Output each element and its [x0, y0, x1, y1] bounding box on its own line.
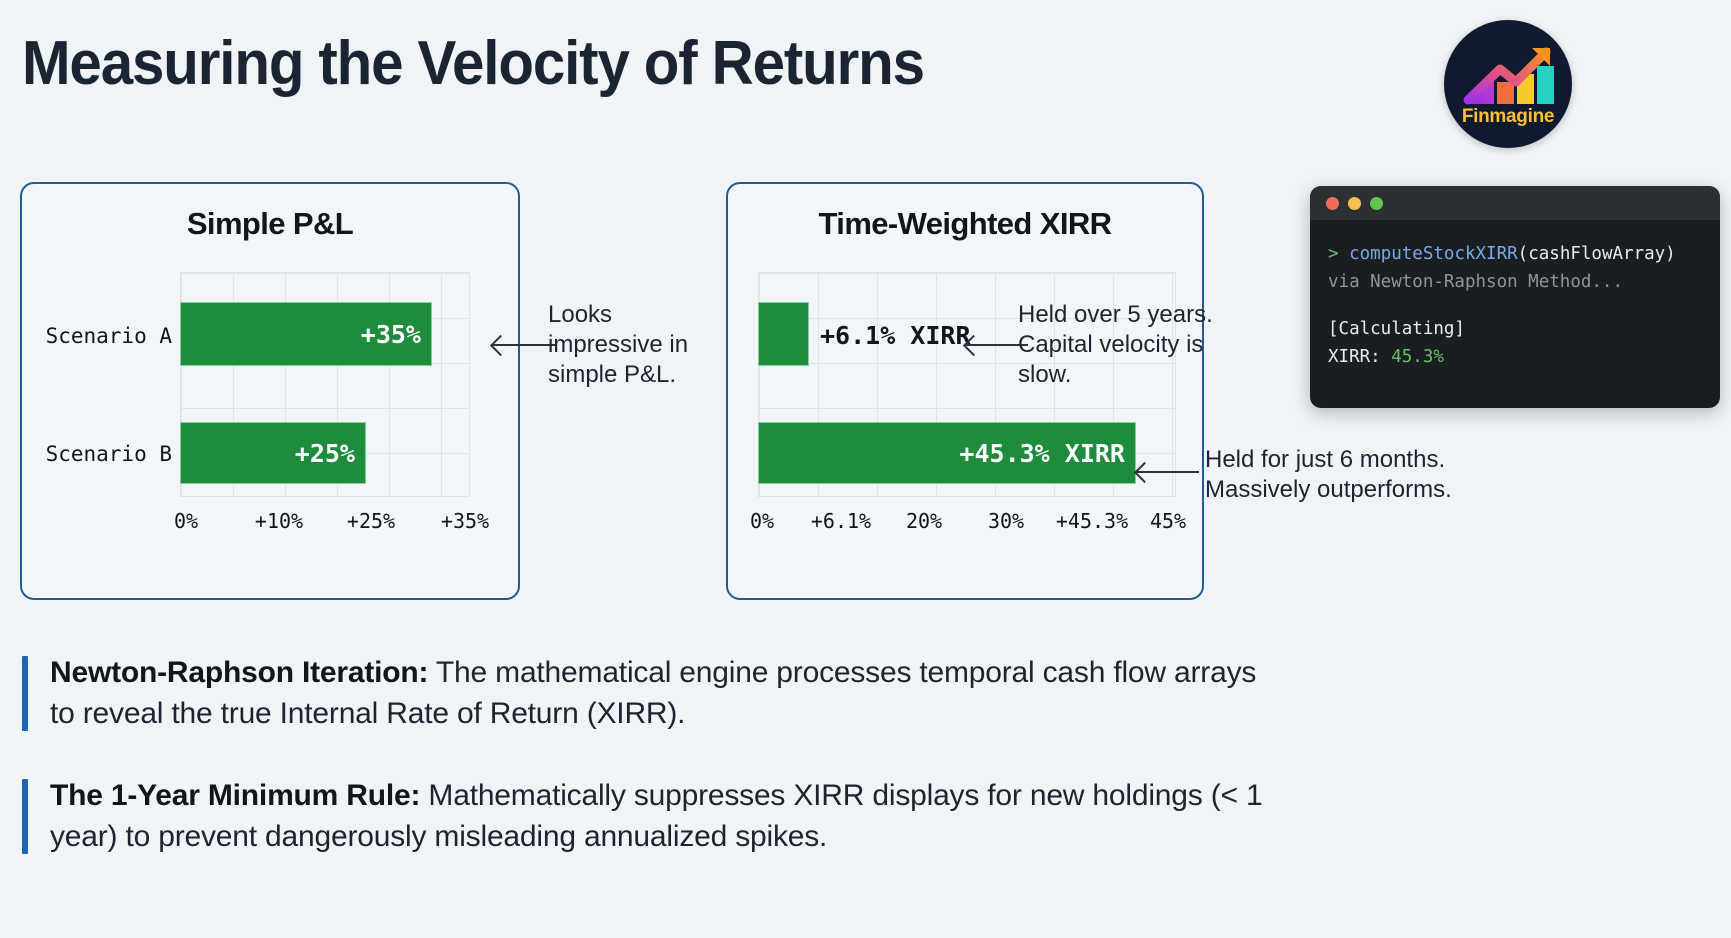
key-points-list: Newton-Raphson Iteration: The mathematic… — [22, 652, 1272, 898]
annotation-held-6-months: Held for just 6 months. Massively outper… — [1205, 445, 1495, 505]
minimize-icon[interactable] — [1348, 197, 1361, 210]
bar-label-scenario-b: +25% — [295, 439, 365, 468]
x-tick-left-2: +25% — [347, 509, 395, 533]
terminal-window: > computeStockXIRR(cashFlowArray) via Ne… — [1310, 186, 1720, 408]
terminal-body: > computeStockXIRR(cashFlowArray) via Ne… — [1310, 220, 1720, 371]
terminal-titlebar — [1310, 186, 1720, 220]
category-label-scenario-a: Scenario A — [30, 324, 172, 348]
chart-card-time-weighted-xirr: Time-Weighted XIRR +6.1% XIRR +45.3% XIR… — [726, 182, 1204, 600]
x-tick-left-3: +35% — [441, 509, 489, 533]
x-tick-right-0: 0% — [750, 509, 774, 533]
bar-label-xirr-large: +45.3% XIRR — [959, 439, 1135, 468]
accent-rule — [22, 656, 28, 731]
annotation-looks-impressive: Looks impressive in simple P&L. — [548, 300, 708, 391]
key-point-one-year-rule: The 1-Year Minimum Rule: Mathematically … — [22, 775, 1272, 858]
x-tick-right-5: 45% — [1150, 509, 1186, 533]
bar-scenario-a: +35% — [180, 302, 432, 366]
terminal-status: [Calculating] — [1328, 315, 1702, 343]
chart-title-left: Simple P&L — [22, 206, 518, 242]
bar-label-xirr-small: +6.1% XIRR — [820, 321, 971, 350]
x-tick-right-1: +6.1% — [811, 509, 871, 533]
x-tick-left-0: 0% — [174, 509, 198, 533]
chart-title-right: Time-Weighted XIRR — [728, 206, 1202, 242]
bar-scenario-b: +25% — [180, 422, 366, 484]
maximize-icon[interactable] — [1370, 197, 1383, 210]
terminal-function-args: (cashFlowArray) — [1518, 244, 1676, 264]
bar-xirr-large: +45.3% XIRR — [758, 422, 1136, 484]
accent-rule — [22, 779, 28, 854]
bar-xirr-small — [758, 302, 809, 366]
x-tick-right-4: +45.3% — [1056, 509, 1128, 533]
key-point-newton-raphson: Newton-Raphson Iteration: The mathematic… — [22, 652, 1272, 735]
terminal-function-name: computeStockXIRR — [1349, 244, 1518, 264]
terminal-result-value: 45.3% — [1391, 347, 1444, 367]
brand-logo: Finmagine — [1444, 20, 1572, 148]
category-label-scenario-b: Scenario B — [30, 442, 172, 466]
chart-card-simple-pl: Simple P&L +35% +25% Scenario A Scenario… — [20, 182, 520, 600]
close-icon[interactable] — [1326, 197, 1339, 210]
bar-label-scenario-a: +35% — [361, 320, 431, 349]
terminal-result-line: XIRR: 45.3% — [1328, 343, 1702, 371]
annotation-arrow-3 — [1137, 471, 1199, 473]
logo-wordmark: Finmagine — [1444, 106, 1572, 128]
annotation-held-over-5-years: Held over 5 years. Capital velocity is s… — [1018, 300, 1228, 391]
terminal-prompt-symbol: > — [1328, 244, 1339, 264]
key-point-lead-2: The 1-Year Minimum Rule: — [50, 779, 420, 812]
terminal-subtitle: via Newton-Raphson Method... — [1328, 268, 1702, 296]
page-title: Measuring the Velocity of Returns — [22, 28, 924, 99]
key-point-lead-1: Newton-Raphson Iteration: — [50, 656, 428, 689]
annotation-arrow-1 — [493, 344, 555, 346]
x-tick-right-3: 30% — [988, 509, 1024, 533]
rising-chart-logo-icon — [1444, 20, 1572, 148]
x-tick-right-2: 20% — [906, 509, 942, 533]
x-tick-left-1: +10% — [255, 509, 303, 533]
terminal-command-line: > computeStockXIRR(cashFlowArray) — [1328, 240, 1702, 268]
terminal-spacer — [1328, 297, 1702, 315]
terminal-result-label: XIRR: — [1328, 347, 1381, 367]
